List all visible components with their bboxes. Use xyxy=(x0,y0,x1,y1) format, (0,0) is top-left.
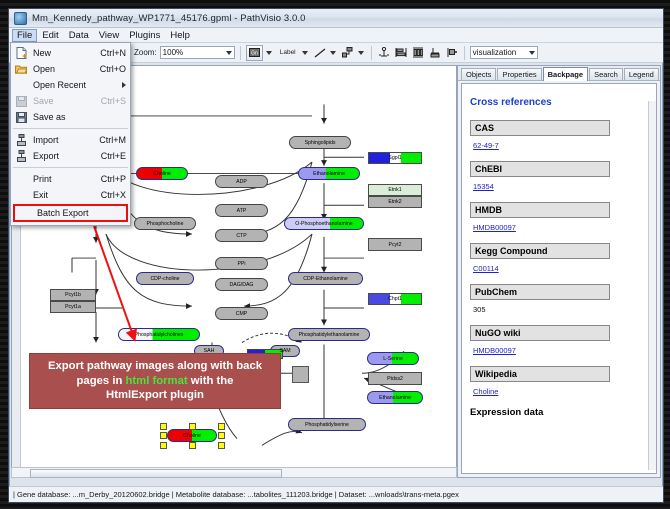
menu-item-open-recent[interactable]: Open Recent xyxy=(11,77,130,93)
menu-item-print[interactable]: Print Ctrl+P xyxy=(11,171,130,187)
node-label: L-Serine xyxy=(383,356,403,362)
side-dock: Objects Properties Backpage Search Legen… xyxy=(457,65,661,478)
menu-item-import[interactable]: Import Ctrl+M xyxy=(11,132,130,148)
menu-item-new[interactable]: New Ctrl+N xyxy=(11,45,130,61)
xref-header-kegg: Kegg Compound xyxy=(470,243,610,259)
backpage-scrollbar[interactable] xyxy=(648,101,656,470)
node-label: Sgpl1 xyxy=(388,155,401,161)
node-phosphocholine[interactable]: Phosphocholine xyxy=(134,217,196,230)
node-pcyt2[interactable]: Pcyt2 xyxy=(368,238,422,251)
node-label: Sphingolipids xyxy=(305,140,336,146)
node-choline-bottom[interactable]: Choline xyxy=(167,429,217,442)
node-label: Pcyt1b xyxy=(65,292,81,298)
tab-objects[interactable]: Objects xyxy=(461,68,496,80)
datanode-dropdown-icon[interactable] xyxy=(266,51,272,55)
node-etnk1[interactable]: Etnk1 xyxy=(368,184,422,196)
menu-item-import-label: Import xyxy=(29,135,93,145)
node-label: ADP xyxy=(236,179,247,185)
xref-header-chebi: ChEBI xyxy=(470,161,610,177)
node-label: DAG/DAG xyxy=(230,282,254,288)
menu-edit[interactable]: Edit xyxy=(37,29,63,42)
toolbar-separator xyxy=(240,46,241,60)
status-bar: | Gene database: ...m_Derby_20120602.bri… xyxy=(9,486,663,502)
menu-separator-1 xyxy=(13,128,128,129)
menu-item-exit-label: Exit xyxy=(29,190,95,200)
xref-value-chebi[interactable]: 15354 xyxy=(473,182,648,191)
menu-item-save-as[interactable]: Save as xyxy=(11,109,130,125)
tab-legend[interactable]: Legend xyxy=(624,68,659,80)
node-label: Choline xyxy=(183,433,201,439)
node-ppi[interactable]: PPi xyxy=(215,257,268,270)
pathvisio-window: Mm_Kennedy_pathway_WP1771_45176.gpml - P… xyxy=(8,8,664,503)
node-o-phosphoethanolamine[interactable]: O-Phosphoethanolamine xyxy=(284,217,364,230)
node-label: SAM xyxy=(279,348,290,354)
node-label: CDP-Ethanolamine xyxy=(303,276,347,282)
node-phosphatidylserine[interactable]: Phosphatidylserine xyxy=(288,418,366,431)
export-icon xyxy=(13,149,29,163)
app-icon xyxy=(14,12,27,25)
annotation-line1: Export pathway images along with back xyxy=(48,360,262,372)
zoom-combo[interactable]: 100% xyxy=(160,46,235,59)
node-ethanolamine-right[interactable]: Ethanolamine xyxy=(367,391,423,404)
zoom-value: 100% xyxy=(163,48,183,57)
label-button[interactable]: Label xyxy=(277,46,299,60)
node-label: Ethanolamine xyxy=(313,171,345,177)
zoom-label: Zoom: xyxy=(134,48,157,57)
node-label: PPi xyxy=(237,261,245,267)
node-label: Phosphatidylethanolamine xyxy=(299,332,360,338)
chevron-down-icon-2 xyxy=(529,51,535,55)
node-label: ATP xyxy=(237,208,247,214)
menu-item-batch-export[interactable]: Batch Export xyxy=(13,204,128,222)
annotation-html-format: html format xyxy=(126,375,188,387)
datanode-button[interactable]: Gn xyxy=(246,45,263,61)
node-label: CMP xyxy=(236,311,248,317)
node-sphingolipids[interactable]: Sphingolipids xyxy=(289,136,351,149)
node-label: CDP-choline xyxy=(150,276,179,282)
node-ptdss2[interactable]: Ptdss2 xyxy=(368,372,422,385)
node-pcyt1b[interactable]: Pcyt1b xyxy=(50,289,96,301)
selection-handle-s[interactable] xyxy=(189,442,196,449)
interaction-dropdown-icon[interactable] xyxy=(358,51,364,55)
save-icon xyxy=(13,94,29,108)
menu-item-open-accel: Ctrl+O xyxy=(94,64,126,74)
node-atp[interactable]: ATP xyxy=(215,204,268,217)
backpage-panel[interactable]: Cross references CAS 62-49-7 ChEBI 15354… xyxy=(461,83,657,474)
annotation-line2-prefix: pages in xyxy=(77,375,126,387)
status-text: | Gene database: ...m_Derby_20120602.bri… xyxy=(13,490,459,499)
menu-view[interactable]: View xyxy=(94,29,124,42)
annotation-callout: Export pathway images along with back pa… xyxy=(29,353,281,409)
tab-properties[interactable]: Properties xyxy=(497,68,541,80)
node-cmp[interactable]: CMP xyxy=(215,307,268,320)
toolbar-separator-2 xyxy=(371,46,372,60)
title-bar: Mm_Kennedy_pathway_WP1771_45176.gpml - P… xyxy=(9,9,663,28)
selection-handle-ne[interactable] xyxy=(218,423,225,430)
node-label: Pcyt1a xyxy=(65,304,81,310)
blank-icon-3 xyxy=(13,188,29,202)
node-label: Etnk2 xyxy=(388,199,401,205)
node-cdp-ethanolamine[interactable]: CDP-Ethanolamine xyxy=(288,272,363,285)
selection-handle-e[interactable] xyxy=(218,432,225,439)
tab-search[interactable]: Search xyxy=(589,68,623,80)
selection-handle-w[interactable] xyxy=(160,432,167,439)
order-button[interactable] xyxy=(445,46,459,60)
menu-item-export[interactable]: Export Ctrl+E xyxy=(11,148,130,164)
node-adp[interactable]: ADP xyxy=(215,175,268,188)
menu-help[interactable]: Help xyxy=(165,29,195,42)
toolbar-separator-3 xyxy=(464,46,465,60)
node-l-serine[interactable]: L-Serine xyxy=(367,352,419,365)
import-icon xyxy=(13,133,29,147)
xref-header-nugo: NuGO wiki xyxy=(470,325,610,341)
menu-file[interactable]: File xyxy=(12,29,37,42)
anchor-button[interactable] xyxy=(377,46,391,60)
canvas-hscrollbar[interactable] xyxy=(11,467,457,478)
menu-item-batch-export-label: Batch Export xyxy=(33,208,122,218)
menu-item-exit-accel: Ctrl+X xyxy=(95,190,126,200)
selection-handle-nw[interactable] xyxy=(160,423,167,430)
node-label: Phosphocholine xyxy=(147,221,184,227)
submenu-arrow-icon xyxy=(122,82,126,88)
menu-item-save-accel: Ctrl+S xyxy=(95,96,126,106)
backpage-title: Cross references xyxy=(470,97,648,108)
node-pcyt1a[interactable]: Pcyt1a xyxy=(50,301,96,313)
blank-icon-2 xyxy=(13,172,29,186)
node-label: Phosphatidylserine xyxy=(305,422,349,428)
menu-item-import-accel: Ctrl+M xyxy=(93,135,126,145)
node-unlabeled-shape[interactable] xyxy=(292,366,309,383)
blank-icon xyxy=(13,78,29,92)
tab-backpage[interactable]: Backpage xyxy=(543,67,588,81)
xref-header-pubchem: PubChem xyxy=(470,284,610,300)
node-label: Etnk1 xyxy=(388,187,401,193)
menu-item-new-label: New xyxy=(29,48,94,58)
dock-tabs: Objects Properties Backpage Search Legen… xyxy=(458,66,660,81)
node-sgpl1[interactable]: Sgpl1 xyxy=(368,152,422,164)
menu-item-save-label: Save xyxy=(29,96,95,106)
chevron-down-icon xyxy=(226,51,232,55)
annotation-line2-suffix: with the xyxy=(188,375,234,387)
menu-item-open-label: Open xyxy=(29,64,94,74)
node-phosphatidylethanolamine[interactable]: Phosphatidylethanolamine xyxy=(288,328,370,341)
node-phosphatidylcholines[interactable]: Phosphatidylcholines xyxy=(118,328,200,341)
visualization-value: visualization xyxy=(473,48,517,57)
xref-value-hmdb[interactable]: HMDB00097 xyxy=(473,223,648,232)
xref-header-wikipedia: Wikipedia xyxy=(470,366,610,382)
menu-separator-2 xyxy=(13,167,128,168)
label-dropdown-icon[interactable] xyxy=(302,51,308,55)
menu-plugins[interactable]: Plugins xyxy=(124,29,165,42)
selection-handle-sw[interactable] xyxy=(160,442,167,449)
node-label: O-Phosphoethanolamine xyxy=(295,221,352,227)
menu-item-new-accel: Ctrl+N xyxy=(94,48,126,58)
node-label: Pcyt2 xyxy=(389,242,402,248)
xref-value-pubchem: 305 xyxy=(473,305,648,314)
node-label: Ethanolamine xyxy=(379,395,411,401)
node-label: Ptdss2 xyxy=(387,376,403,382)
xref-header-hmdb: HMDB xyxy=(470,202,610,218)
xref-value-nugo[interactable]: HMDB00097 xyxy=(473,346,648,355)
node-label: Choline xyxy=(153,171,171,177)
visualization-combo[interactable]: visualization xyxy=(470,46,538,59)
menu-item-export-accel: Ctrl+E xyxy=(95,151,126,161)
canvas-hscrollbar-thumb[interactable] xyxy=(30,469,282,478)
menu-item-open-recent-label: Open Recent xyxy=(29,80,122,90)
node-label: CTP xyxy=(236,233,246,239)
xref-value-wikipedia[interactable]: Choline xyxy=(473,387,648,396)
window-title: Mm_Kennedy_pathway_WP1771_45176.gpml - P… xyxy=(32,13,306,24)
label-button-text: Label xyxy=(280,49,296,56)
node-cdp-choline[interactable]: CDP-choline xyxy=(136,272,194,285)
selection-group[interactable]: Choline xyxy=(160,423,224,448)
file-menu-dropdown[interactable]: New Ctrl+N Open Ctrl+O Open Recent Save xyxy=(10,42,131,226)
menu-item-print-label: Print xyxy=(29,174,95,184)
node-ctp[interactable]: CTP xyxy=(215,229,268,242)
annotation-line3: HtmlExport plugin xyxy=(106,389,204,401)
selection-handle-se[interactable] xyxy=(218,442,225,449)
group-button[interactable] xyxy=(411,46,425,60)
stack-button[interactable] xyxy=(428,46,442,60)
interaction-button[interactable] xyxy=(341,46,355,60)
node-etnk2[interactable]: Etnk2 xyxy=(368,196,422,208)
annotation-text: Export pathway images along with back pa… xyxy=(42,359,268,402)
menu-item-save-as-label: Save as xyxy=(29,112,120,122)
menu-bar: File Edit Data View Plugins Help xyxy=(9,28,663,43)
line-dropdown-icon[interactable] xyxy=(330,51,336,55)
align-button[interactable] xyxy=(394,46,408,60)
menu-item-open[interactable]: Open Ctrl+O xyxy=(11,61,130,77)
menu-data[interactable]: Data xyxy=(64,29,94,42)
menu-item-save: Save Ctrl+S xyxy=(11,93,130,109)
blank-icon-4 xyxy=(17,206,33,220)
menu-item-exit[interactable]: Exit Ctrl+X xyxy=(11,187,130,203)
screenshot-frame: Mm_Kennedy_pathway_WP1771_45176.gpml - P… xyxy=(0,0,670,509)
menu-item-print-accel: Ctrl+P xyxy=(95,174,126,184)
selection-handle-n[interactable] xyxy=(189,423,196,430)
new-document-icon xyxy=(13,46,29,60)
menu-item-export-label: Export xyxy=(29,151,95,161)
node-label: Chpt1 xyxy=(388,296,402,302)
node-chpt1[interactable]: Chpt1 xyxy=(368,293,422,305)
svg-text:Gn: Gn xyxy=(251,51,258,57)
node-dag[interactable]: DAG/DAG xyxy=(215,278,268,291)
xref-value-cas[interactable]: 62-49-7 xyxy=(473,141,648,150)
xref-value-kegg[interactable]: C00114 xyxy=(473,264,648,273)
line-button[interactable] xyxy=(313,46,327,60)
node-ethanolamine-top[interactable]: Ethanolamine xyxy=(298,167,360,180)
node-choline-top[interactable]: Choline xyxy=(136,167,188,180)
node-label: Phosphatidylcholines xyxy=(135,332,184,338)
xref-header-cas: CAS xyxy=(470,120,610,136)
expression-data-header: Expression data xyxy=(470,407,648,418)
open-folder-icon xyxy=(13,62,29,76)
save-as-icon xyxy=(13,110,29,124)
